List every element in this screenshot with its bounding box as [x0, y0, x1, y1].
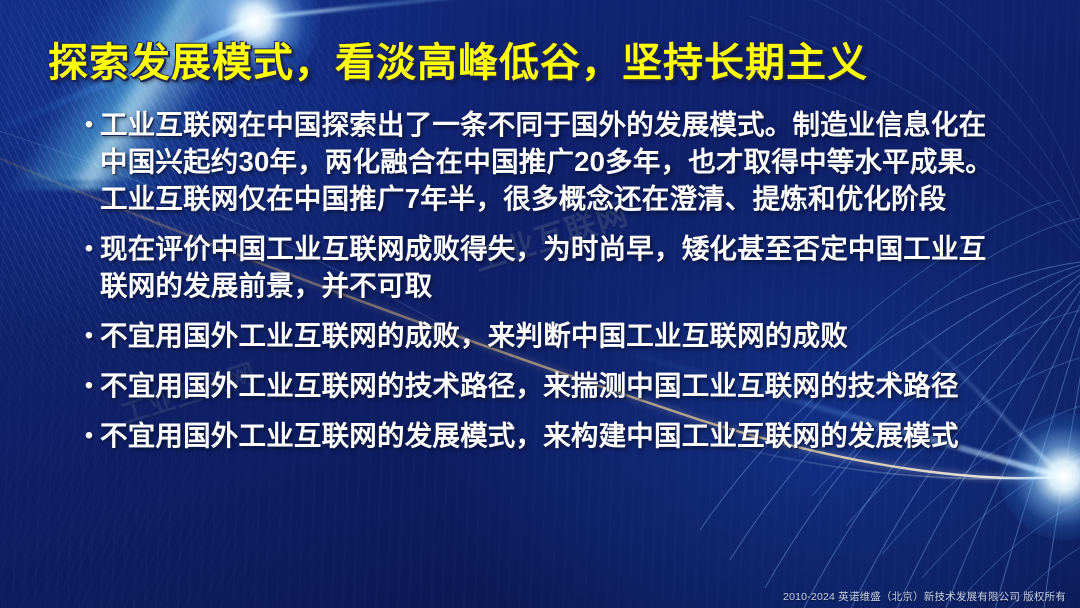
slide-title: 探索发展模式，看淡高峰低谷，坚持长期主义 — [48, 30, 868, 88]
bullet-item-1: • 工业互联网在中国探索出了一条不同于国外的发展模式。制造业信息化在中国兴起约3… — [78, 106, 1010, 217]
presentation-slide: 工业互联网 工业互联网 探索发展模式，看淡高峰低谷，坚持长期主义 • 工业互联网… — [0, 0, 1080, 608]
bullet-marker-icon: • — [78, 417, 100, 454]
bullet-list: • 工业互联网在中国探索出了一条不同于国外的发展模式。制造业信息化在中国兴起约3… — [78, 106, 1010, 467]
bullet-item-2: • 现在评价中国工业互联网成败得失，为时尚早，矮化甚至否定中国工业互联网的发展前… — [78, 230, 1010, 304]
bullet-marker-icon: • — [78, 317, 100, 354]
bullet-text-2: 现在评价中国工业互联网成败得失，为时尚早，矮化甚至否定中国工业互联网的发展前景，… — [100, 230, 1010, 304]
bullet-text-4: 不宜用国外工业互联网的技术路径，来揣测中国工业互联网的技术路径 — [100, 367, 1010, 404]
bullet-marker-icon: • — [78, 230, 100, 267]
bullet-marker-icon: • — [78, 106, 100, 143]
bullet-item-4: • 不宜用国外工业互联网的技术路径，来揣测中国工业互联网的技术路径 — [78, 367, 1010, 404]
bullet-item-3: • 不宜用国外工业互联网的成败，来判断中国工业互联网的成败 — [78, 317, 1010, 354]
bullet-text-1: 工业互联网在中国探索出了一条不同于国外的发展模式。制造业信息化在中国兴起约30年… — [100, 106, 1010, 217]
bullet-marker-icon: • — [78, 367, 100, 404]
copyright-footer: 2010-2024 英诺维盛（北京）新技术发展有限公司 版权所有 — [783, 589, 1066, 604]
bullet-item-5: • 不宜用国外工业互联网的发展模式，来构建中国工业互联网的发展模式 — [78, 417, 1010, 454]
bullet-text-5: 不宜用国外工业互联网的发展模式，来构建中国工业互联网的发展模式 — [100, 417, 1010, 454]
bullet-text-3: 不宜用国外工业互联网的成败，来判断中国工业互联网的成败 — [100, 317, 1010, 354]
